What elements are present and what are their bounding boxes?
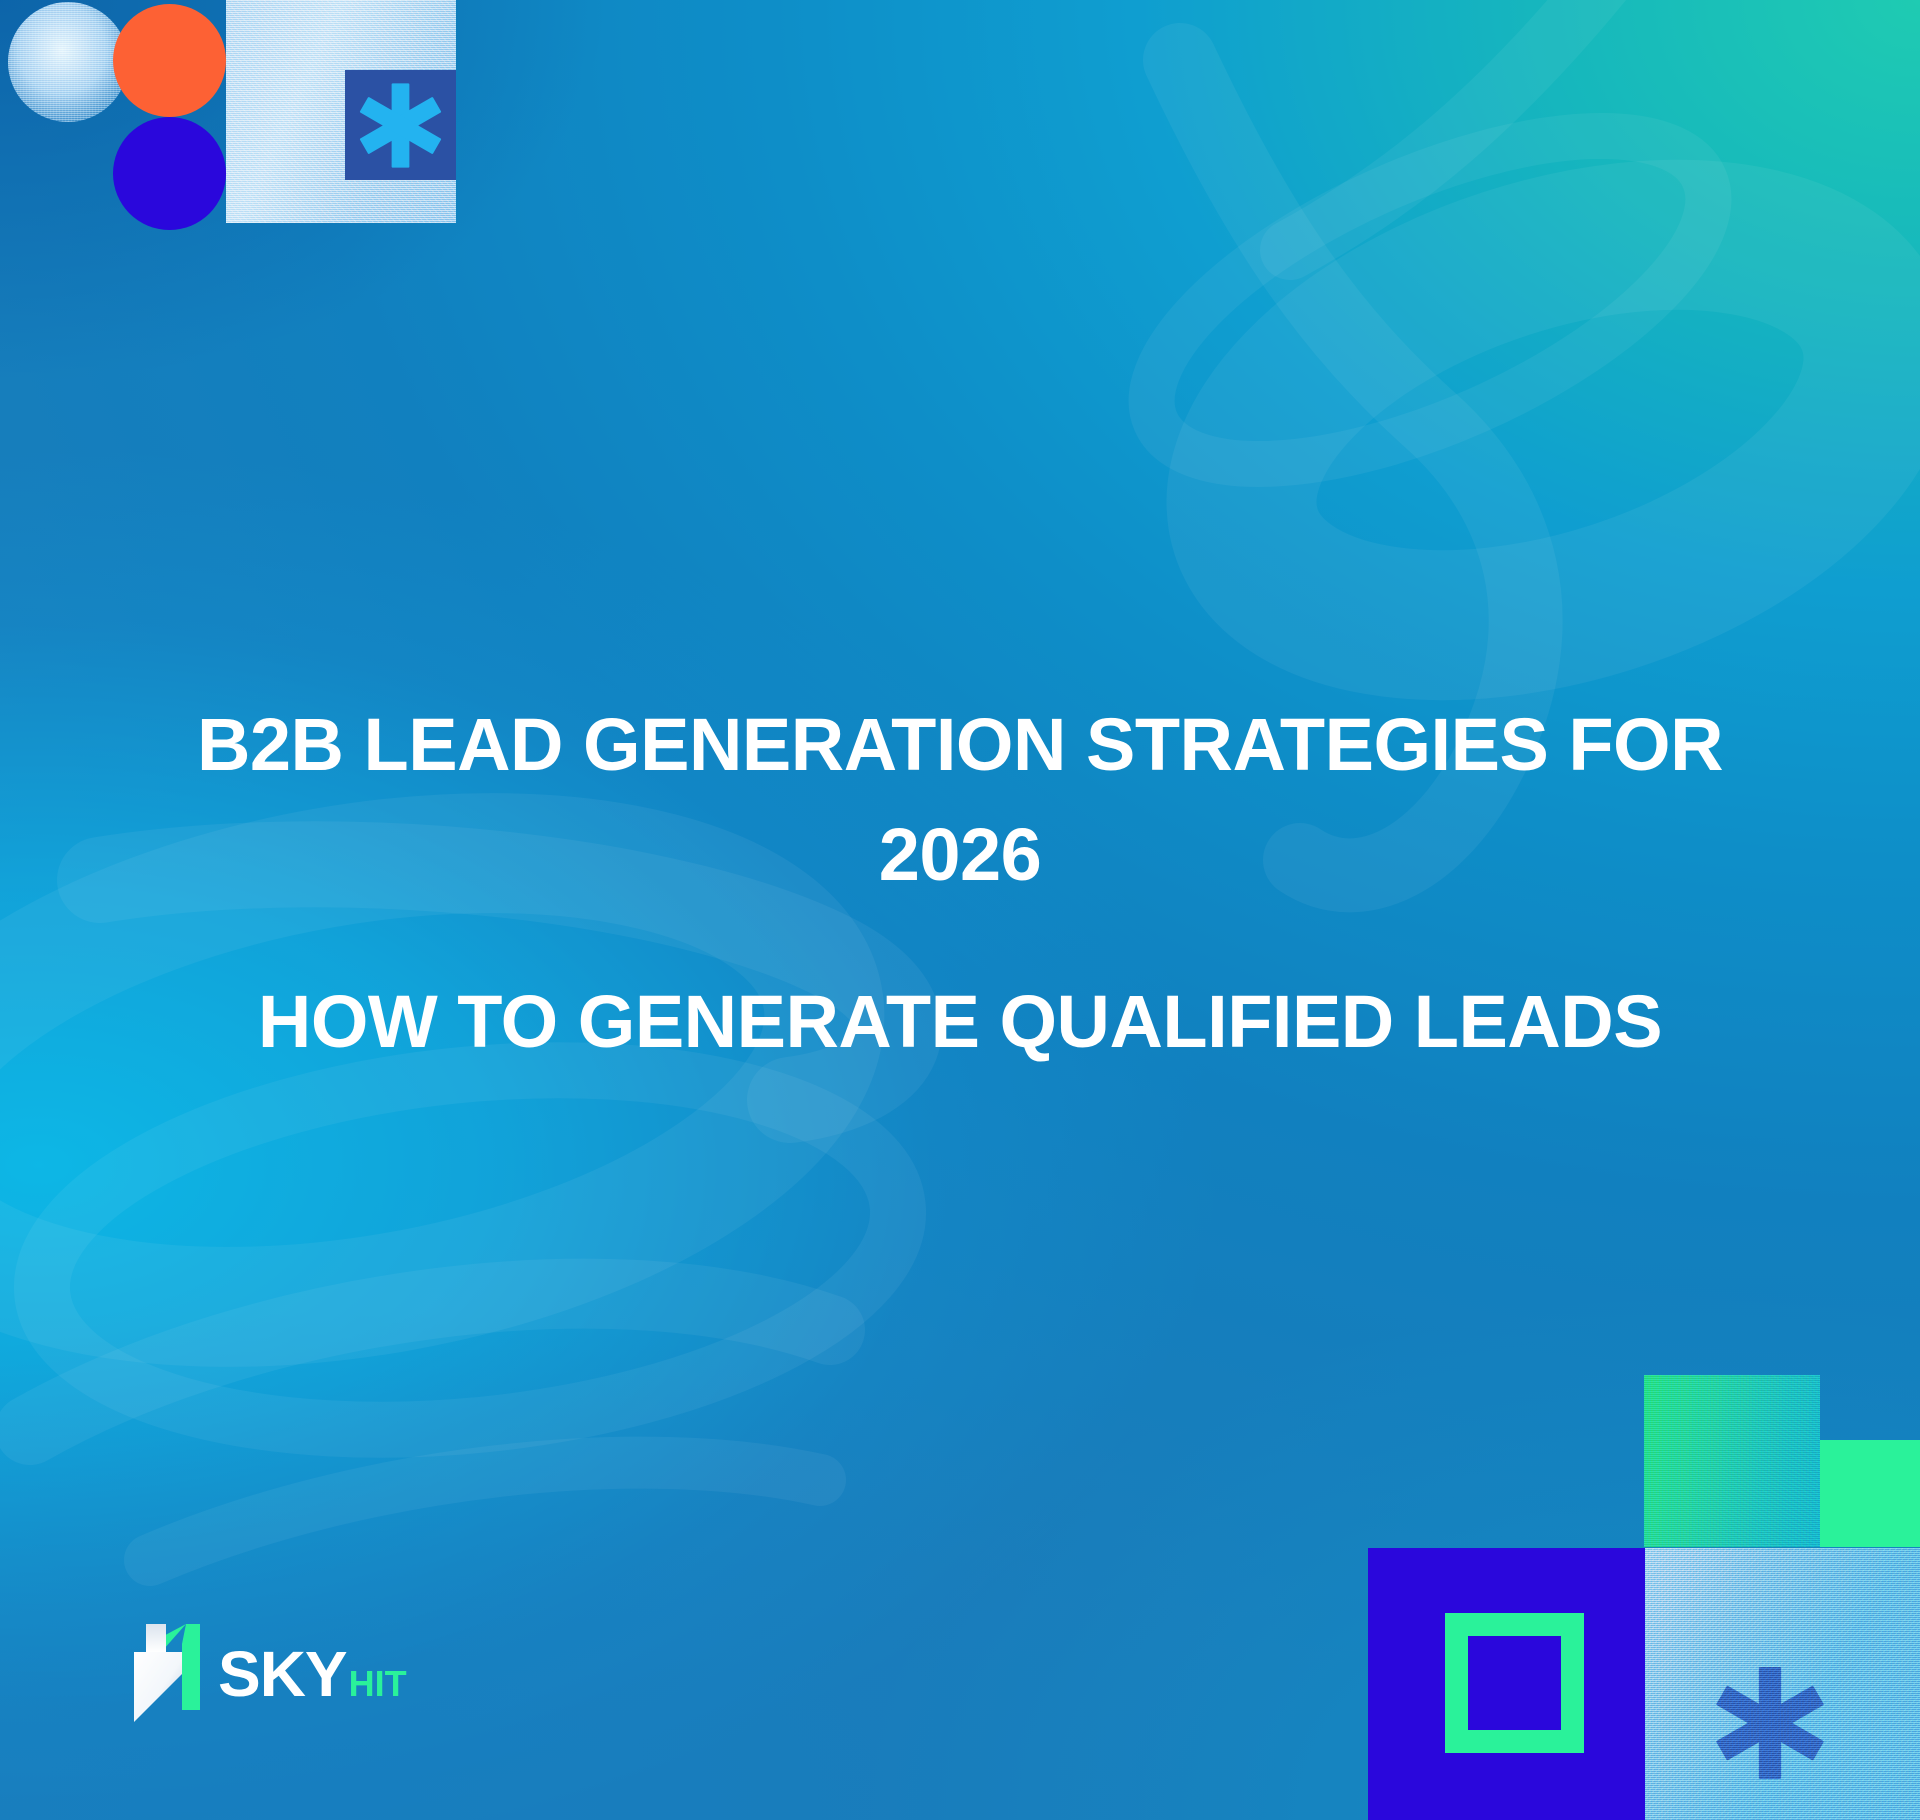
orange-circle-icon [113, 4, 226, 117]
green-solid-square-icon [1820, 1440, 1920, 1547]
logo-mark-icon [126, 1622, 204, 1726]
green-outline-square-icon [1445, 1613, 1584, 1753]
page-subtitle: HOW TO GENERATE QUALIFIED LEADS [60, 967, 1860, 1077]
logo-text-secondary: HIT [349, 1666, 407, 1702]
logo-text-primary: SKY [218, 1642, 347, 1706]
top-left-decoration-cluster [0, 0, 470, 240]
page-title-line-1: B2B LEAD GENERATION STRATEGIES FOR [60, 690, 1860, 800]
title-slide: B2B LEAD GENERATION STRATEGIES FOR 2026 … [0, 0, 1920, 1820]
page-title-year: 2026 [60, 800, 1860, 910]
logo-wordmark: SKY HIT [218, 1642, 407, 1706]
indigo-circle-icon [113, 117, 226, 230]
asterisk-icon [345, 70, 456, 181]
indigo-square-icon [1368, 1548, 1645, 1820]
title-block: B2B LEAD GENERATION STRATEGIES FOR 2026 … [0, 690, 1920, 1077]
noise-square-bottom-icon [1645, 1548, 1920, 1820]
asterisk-tile-icon [345, 70, 456, 180]
noise-circle-icon [8, 2, 128, 122]
green-noise-square-icon [1644, 1375, 1820, 1547]
bottom-right-decoration-cluster [1344, 1370, 1920, 1820]
brand-logo[interactable]: SKY HIT [126, 1622, 407, 1726]
asterisk-icon-bottom [1700, 1653, 1840, 1793]
